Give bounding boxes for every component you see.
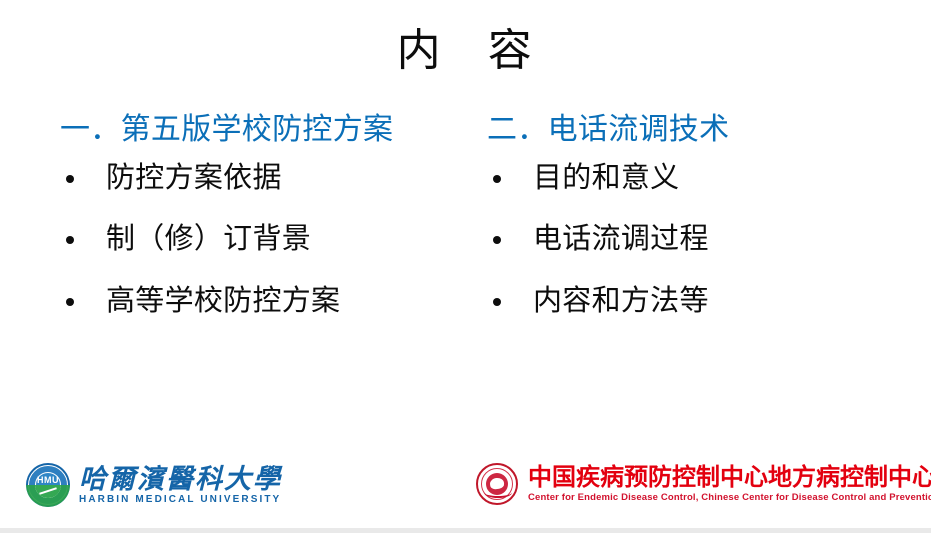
content-column-right: 二．电话流调技术 目的和意义 电话流调过程 内容和方法等 — [487, 112, 907, 346]
bullet-dot-icon — [60, 223, 106, 244]
hmu-name-en: HARBIN MEDICAL UNIVERSITY — [79, 495, 282, 505]
cdc-logo-text: 中国疾病预防控制中心地方病控制中心 Center for Endemic Dis… — [528, 465, 931, 503]
list-item: 防控方案依据 — [60, 162, 480, 195]
list-item-label: 电话流调过程 — [533, 223, 709, 256]
list-item-label: 目的和意义 — [533, 162, 679, 195]
presentation-slide: 内 容 一．第五版学校防控方案 防控方案依据 制（修）订背景 高等学校防控方案 … — [0, 0, 931, 533]
list-item: 目的和意义 — [487, 162, 907, 195]
list-item-label: 制（修）订背景 — [106, 223, 311, 256]
list-item: 制（修）订背景 — [60, 223, 480, 256]
slide-title: 内 容 — [0, 26, 931, 77]
bullet-list-right: 目的和意义 电话流调过程 内容和方法等 — [487, 162, 907, 318]
list-item-label: 防控方案依据 — [106, 162, 282, 195]
harbin-medical-university-logo: HMU 哈爾濱醫科大學 HARBIN MEDICAL UNIVERSITY — [26, 463, 282, 507]
list-item-label: 高等学校防控方案 — [106, 285, 340, 318]
hmu-name-cn: 哈爾濱醫科大學 — [79, 465, 282, 493]
bullet-list-left: 防控方案依据 制（修）订背景 高等学校防控方案 — [60, 162, 480, 318]
bullet-dot-icon — [60, 285, 106, 306]
list-item: 高等学校防控方案 — [60, 285, 480, 318]
column-heading-left: 一．第五版学校防控方案 — [60, 112, 480, 148]
list-item: 内容和方法等 — [487, 285, 907, 318]
hmu-emblem-letters: HMU — [26, 476, 70, 485]
bullet-dot-icon — [487, 285, 533, 306]
list-item: 电话流调过程 — [487, 223, 907, 256]
hmu-logo-text: 哈爾濱醫科大學 HARBIN MEDICAL UNIVERSITY — [79, 465, 282, 505]
bullet-dot-icon — [487, 223, 533, 244]
bullet-dot-icon — [487, 162, 533, 183]
list-item-label: 内容和方法等 — [533, 285, 709, 318]
bottom-divider — [0, 528, 931, 533]
content-column-left: 一．第五版学校防控方案 防控方案依据 制（修）订背景 高等学校防控方案 — [60, 112, 480, 346]
hmu-emblem-icon: HMU — [26, 463, 70, 507]
slide-footer: HMU 哈爾濱醫科大學 HARBIN MEDICAL UNIVERSITY 中国… — [0, 457, 931, 533]
china-cdc-endemic-disease-logo: 中国疾病预防控制中心地方病控制中心 Center for Endemic Dis… — [476, 463, 931, 505]
bullet-dot-icon — [60, 162, 106, 183]
cdc-emblem-icon — [476, 463, 518, 505]
cdc-name-cn: 中国疾病预防控制中心地方病控制中心 — [528, 465, 931, 490]
cdc-name-en: Center for Endemic Disease Control, Chin… — [528, 493, 931, 503]
column-heading-right: 二．电话流调技术 — [487, 112, 907, 148]
